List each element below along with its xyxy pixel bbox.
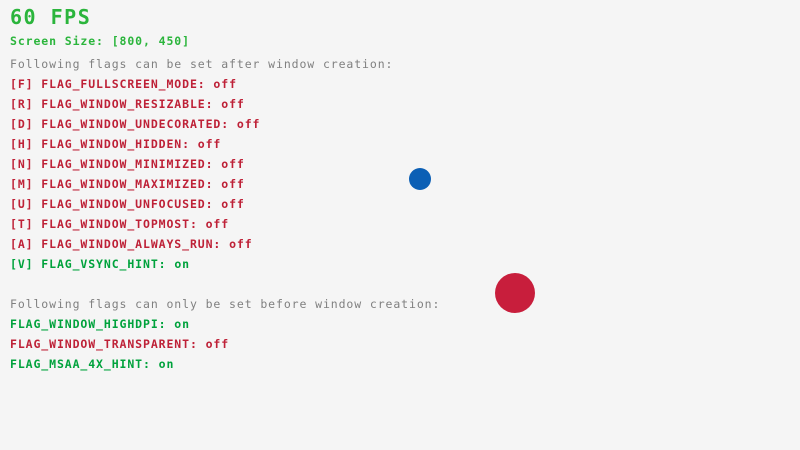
flag-value: off (206, 337, 229, 351)
flag-row[interactable]: [A] FLAG_WINDOW_ALWAYS_RUN: off (10, 239, 253, 251)
after-creation-heading: Following flags can be set after window … (10, 59, 393, 71)
flag-key: [D] (10, 117, 41, 131)
flag-name: FLAG_MSAA_4X_HINT: (10, 357, 159, 371)
flag-name: FLAG_WINDOW_UNFOCUSED: (41, 197, 221, 211)
flag-name: FLAG_WINDOW_UNDECORATED: (41, 117, 237, 131)
flag-value: on (174, 257, 190, 271)
before-creation-heading: Following flags can only be set before w… (10, 299, 440, 311)
flag-value: off (237, 117, 260, 131)
flag-row[interactable]: [R] FLAG_WINDOW_RESIZABLE: off (10, 99, 245, 111)
flag-name: FLAG_WINDOW_MINIMIZED: (41, 157, 221, 171)
flag-value: off (229, 237, 252, 251)
flag-row[interactable]: [U] FLAG_WINDOW_UNFOCUSED: off (10, 199, 245, 211)
flag-row[interactable]: [T] FLAG_WINDOW_TOPMOST: off (10, 219, 229, 231)
flag-row[interactable]: [F] FLAG_FULLSCREEN_MODE: off (10, 79, 237, 91)
flag-row: FLAG_MSAA_4X_HINT: on (10, 359, 174, 371)
flag-value: on (174, 317, 190, 331)
flag-name: FLAG_WINDOW_TOPMOST: (41, 217, 205, 231)
flag-row: FLAG_WINDOW_TRANSPARENT: off (10, 339, 229, 351)
flag-value: on (159, 357, 175, 371)
flag-value: off (221, 197, 244, 211)
flag-name: FLAG_WINDOW_HIDDEN: (41, 137, 197, 151)
blue-ball (409, 168, 431, 190)
flag-name: FLAG_WINDOW_MAXIMIZED: (41, 177, 221, 191)
fps-counter: 60 FPS (10, 7, 91, 27)
flag-row[interactable]: [N] FLAG_WINDOW_MINIMIZED: off (10, 159, 245, 171)
flag-key: [T] (10, 217, 41, 231)
flag-name: FLAG_FULLSCREEN_MODE: (41, 77, 213, 91)
flag-row: FLAG_WINDOW_HIGHDPI: on (10, 319, 190, 331)
flag-row[interactable]: [D] FLAG_WINDOW_UNDECORATED: off (10, 119, 260, 131)
flag-value: off (206, 217, 229, 231)
flag-name: FLAG_WINDOW_ALWAYS_RUN: (41, 237, 229, 251)
flag-key: [N] (10, 157, 41, 171)
red-ball (495, 273, 535, 313)
flag-row[interactable]: [H] FLAG_WINDOW_HIDDEN: off (10, 139, 221, 151)
flag-key: [R] (10, 97, 41, 111)
flag-key: [M] (10, 177, 41, 191)
flag-value: off (213, 77, 236, 91)
flag-row[interactable]: [M] FLAG_WINDOW_MAXIMIZED: off (10, 179, 245, 191)
flag-key: [F] (10, 77, 41, 91)
flag-name: FLAG_WINDOW_HIGHDPI: (10, 317, 174, 331)
screen-size-label: Screen Size: [800, 450] (10, 36, 190, 48)
flag-key: [U] (10, 197, 41, 211)
flag-key: [V] (10, 257, 41, 271)
flag-value: off (221, 177, 244, 191)
flag-key: [A] (10, 237, 41, 251)
flag-name: FLAG_VSYNC_HINT: (41, 257, 174, 271)
flag-key: [H] (10, 137, 41, 151)
raylib-window: 60 FPS Screen Size: [800, 450] Following… (0, 0, 800, 450)
flag-row[interactable]: [V] FLAG_VSYNC_HINT: on (10, 259, 190, 271)
flag-value: off (198, 137, 221, 151)
flag-value: off (221, 97, 244, 111)
flag-name: FLAG_WINDOW_RESIZABLE: (41, 97, 221, 111)
flag-value: off (221, 157, 244, 171)
flag-name: FLAG_WINDOW_TRANSPARENT: (10, 337, 206, 351)
